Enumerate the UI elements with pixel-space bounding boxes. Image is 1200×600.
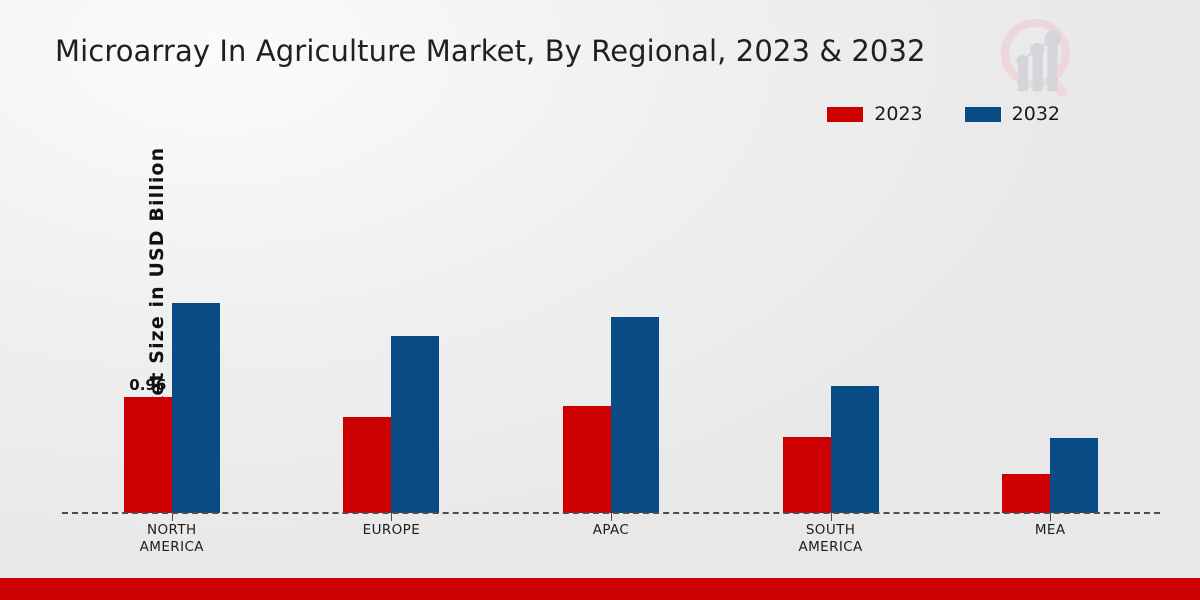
- x-tick-apac: APAC: [561, 516, 661, 556]
- x-tick-label-line2: AMERICA: [122, 539, 222, 556]
- x-tick-label-line1: APAC: [561, 522, 661, 539]
- x-tick-label-line1: MEA: [1000, 522, 1100, 539]
- bar-north-america-2023[interactable]: 0.96: [124, 397, 172, 513]
- bar-apac-2032[interactable]: [611, 317, 659, 513]
- bar-mea-2023[interactable]: [1002, 474, 1050, 513]
- bar-group-south-america: [781, 140, 881, 513]
- bar-apac-2023[interactable]: [563, 406, 611, 513]
- x-tick-label-line1: SOUTH: [781, 522, 881, 539]
- x-tick-north-america: NORTH AMERICA: [122, 516, 222, 556]
- x-tick-mea: MEA: [1000, 516, 1100, 556]
- bar-south-america-2032[interactable]: [831, 386, 879, 513]
- bar-value-north-america-2023: 0.96: [129, 376, 166, 394]
- chart-container: Microarray In Agriculture Market, By Reg…: [0, 0, 1200, 600]
- bar-north-america-2032[interactable]: [172, 303, 220, 513]
- chart-legend: 2023 2032: [827, 103, 1060, 125]
- x-tick-label-line2: AMERICA: [781, 539, 881, 556]
- x-axis-tick-labels: NORTH AMERICA EUROPE APAC SOUTH AMERICA …: [62, 516, 1160, 556]
- bar-south-america-2023[interactable]: [783, 437, 831, 513]
- x-tick-label-line1: NORTH: [122, 522, 222, 539]
- bar-groups: 0.96: [62, 140, 1160, 513]
- bar-group-apac: [561, 140, 661, 513]
- footer-band: [0, 578, 1200, 600]
- legend-label-2023: 2023: [874, 103, 922, 125]
- legend-swatch-2032: [965, 107, 1001, 122]
- legend-label-2032: 2032: [1012, 103, 1060, 125]
- x-tick-label-line1: EUROPE: [341, 522, 441, 539]
- bar-europe-2023[interactable]: [343, 417, 391, 513]
- x-tick-europe: EUROPE: [341, 516, 441, 556]
- legend-item-2023[interactable]: 2023: [827, 103, 922, 125]
- legend-item-2032[interactable]: 2032: [965, 103, 1060, 125]
- chart-title: Microarray In Agriculture Market, By Reg…: [55, 34, 926, 68]
- bar-europe-2032[interactable]: [391, 336, 439, 513]
- legend-swatch-2023: [827, 107, 863, 122]
- bar-group-north-america: 0.96: [122, 140, 222, 513]
- watermark-logo-icon: [994, 12, 1086, 104]
- bar-mea-2032[interactable]: [1050, 438, 1098, 513]
- bar-group-europe: [341, 140, 441, 513]
- x-tick-south-america: SOUTH AMERICA: [781, 516, 881, 556]
- bar-group-mea: [1000, 140, 1100, 513]
